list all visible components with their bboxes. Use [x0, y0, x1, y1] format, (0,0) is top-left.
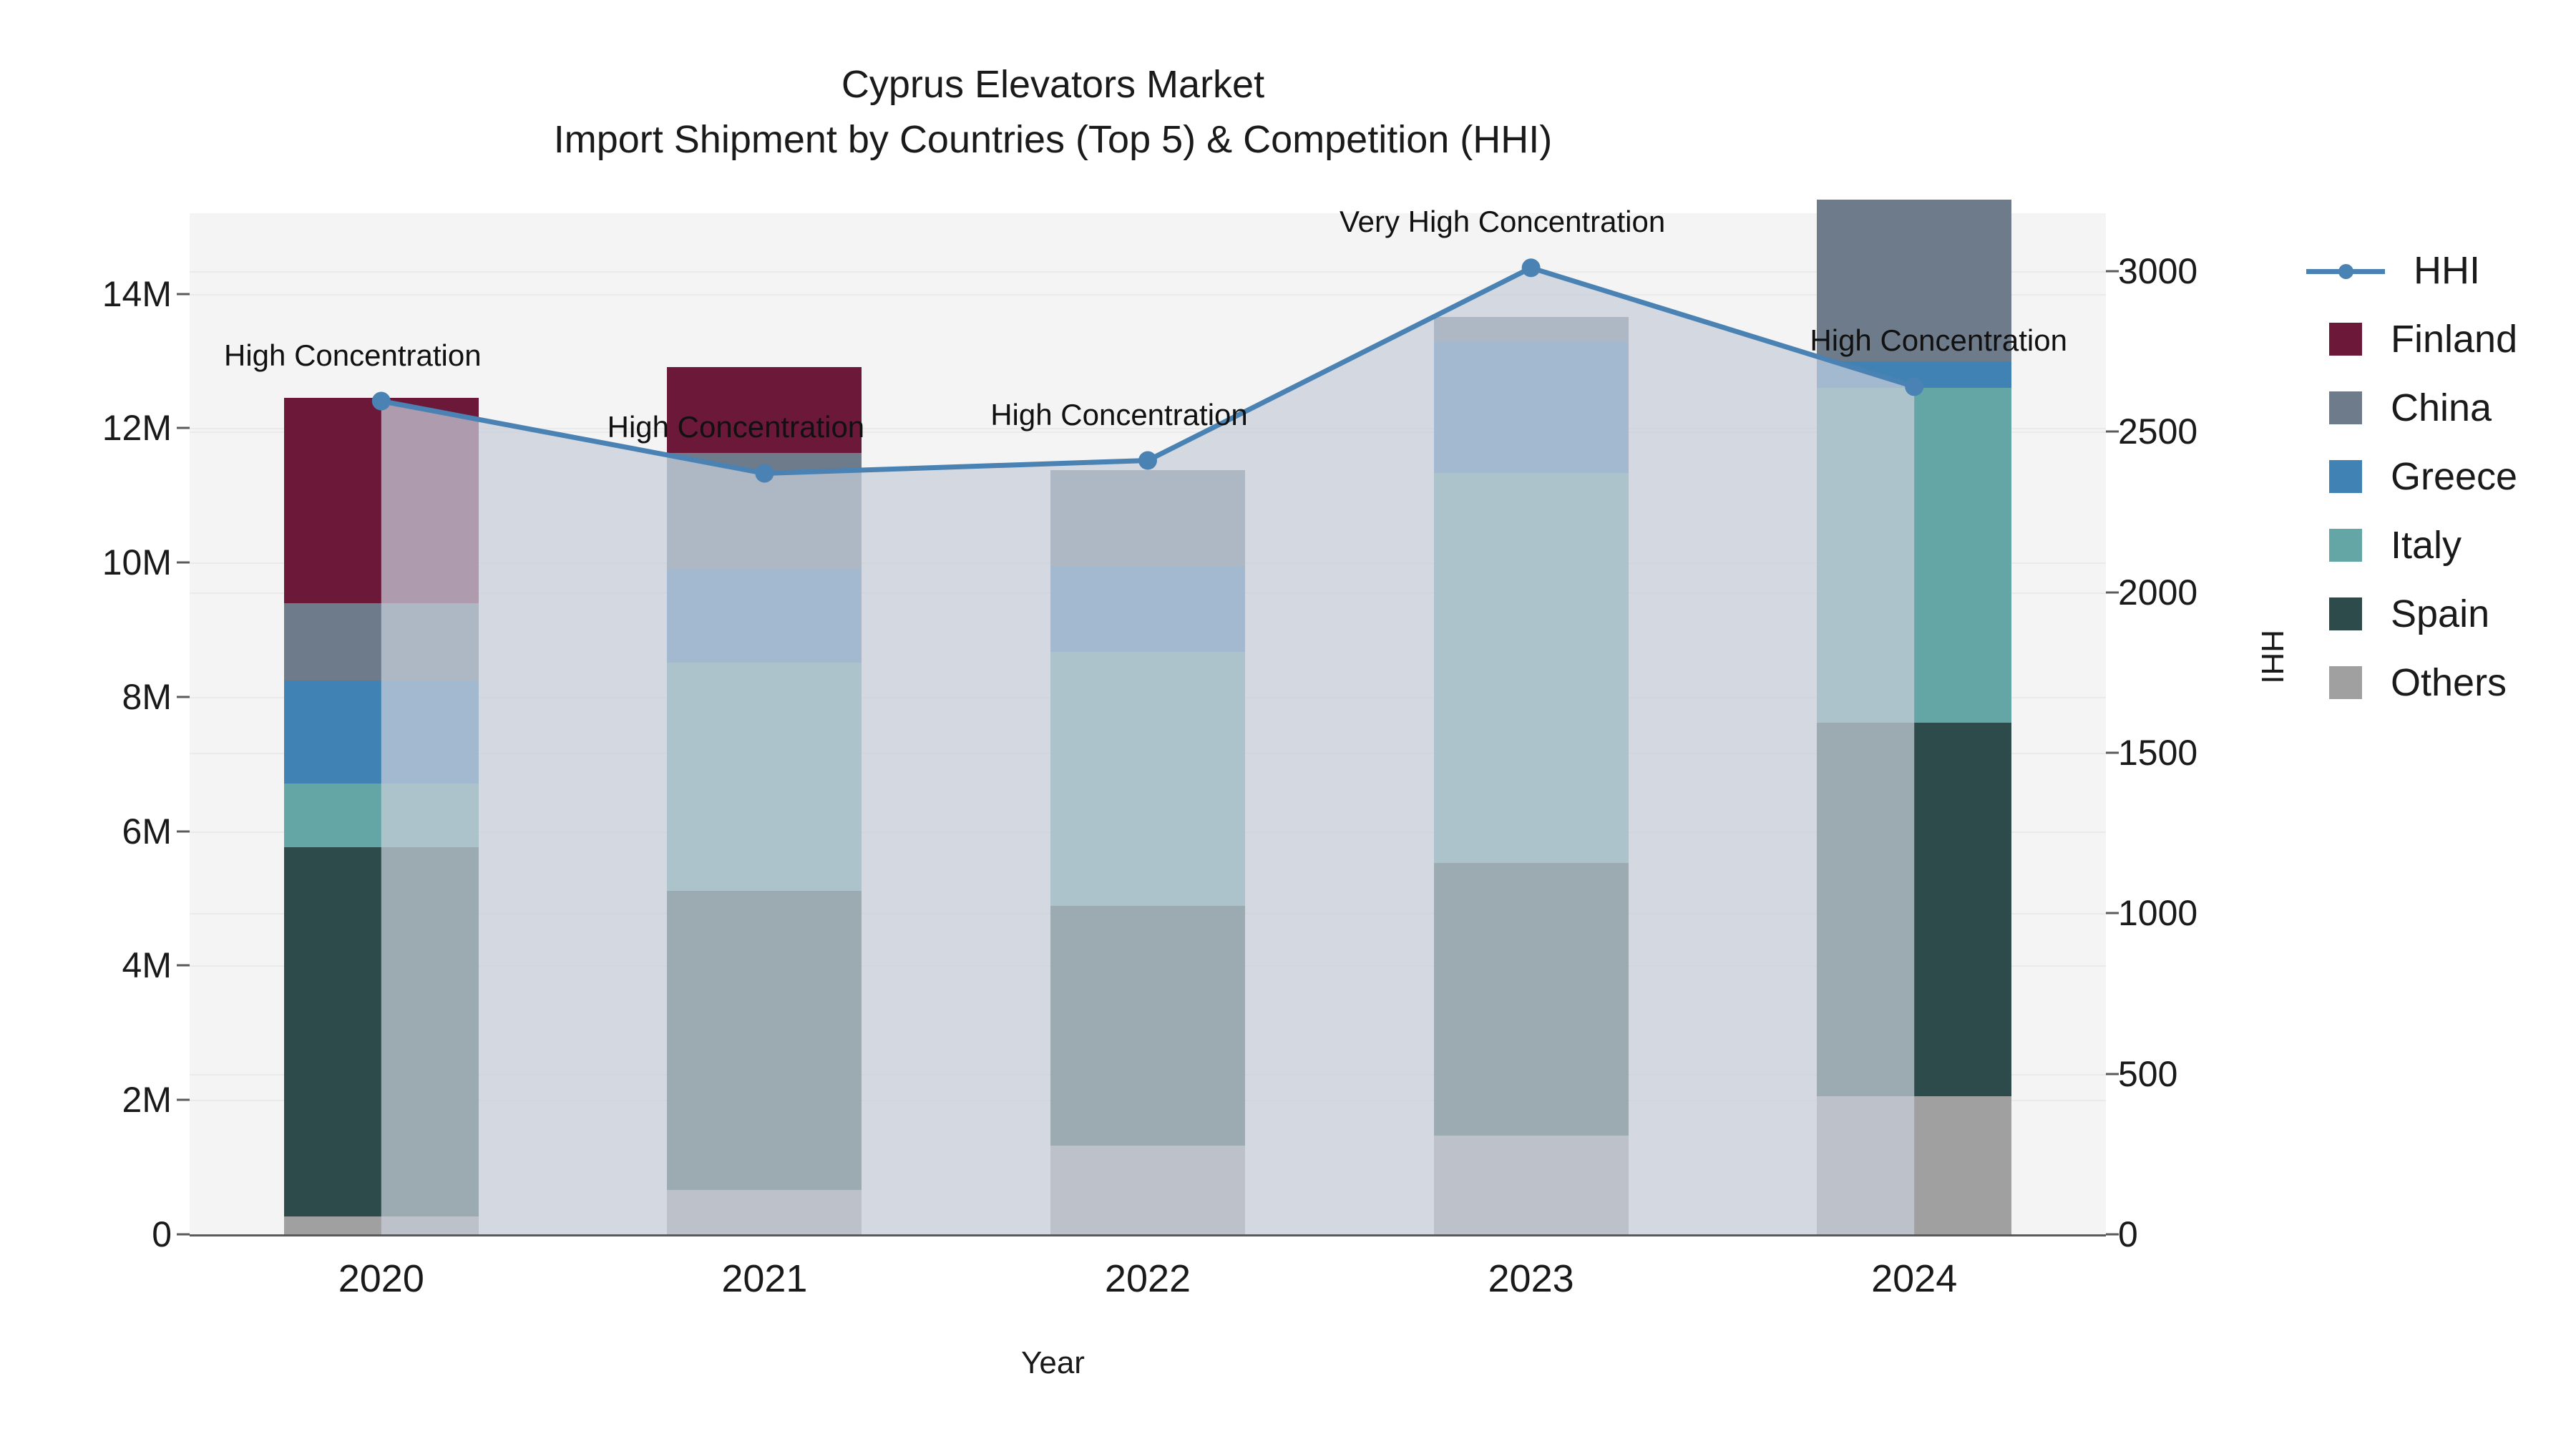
y-axis-right-tick-mark — [2106, 912, 2119, 914]
y-axis-left-tick-label: 14M — [7, 276, 172, 312]
y-axis-left-tick-mark — [177, 427, 190, 429]
legend-swatch-icon — [2329, 529, 2362, 562]
hhi-marker — [755, 464, 774, 482]
legend-item-label: HHI — [2414, 251, 2480, 290]
x-axis-tick-label: 2021 — [621, 1257, 907, 1301]
legend-swatch-icon — [2329, 460, 2362, 493]
y-axis-left-tick-label: 10M — [7, 545, 172, 580]
chart-canvas: Cyprus Elevators Market Import Shipment … — [0, 0, 2576, 1449]
legend-item-label: Spain — [2391, 595, 2489, 633]
x-axis-line — [190, 1234, 2106, 1236]
legend-swatch-icon — [2329, 597, 2362, 630]
x-axis-tick-label: 2024 — [1771, 1257, 2057, 1301]
legend-item[interactable]: China — [2329, 374, 2576, 442]
legend-swatch-icon — [2329, 666, 2362, 699]
y-axis-left-tick-mark — [177, 293, 190, 295]
legend-item-label: Finland — [2391, 320, 2517, 358]
legend-swatch-icon — [2329, 391, 2362, 424]
legend-item-label: Greece — [2391, 457, 2517, 496]
chart-title: Cyprus Elevators Market — [0, 57, 2106, 112]
chart-title-block: Cyprus Elevators Market Import Shipment … — [0, 57, 2106, 167]
legend-item-label: Others — [2391, 663, 2507, 702]
y-axis-right-tick-label: 2500 — [2118, 414, 2304, 449]
legend-line-marker-icon — [2306, 254, 2385, 287]
concentration-annotation: High Concentration — [224, 338, 482, 373]
legend-item[interactable]: Others — [2329, 648, 2576, 717]
x-axis-tick-label: 2020 — [238, 1257, 525, 1301]
legend-item[interactable]: Spain — [2329, 580, 2576, 648]
concentration-annotation: High Concentration — [1810, 323, 2067, 358]
y-axis-right-tick-mark — [2106, 591, 2119, 593]
y-axis-left-tick-mark — [177, 1234, 190, 1236]
y-axis-left-tick-label: 0 — [7, 1216, 172, 1252]
y-axis-right-tick-label: 2000 — [2118, 575, 2304, 610]
y-axis-right-tick-mark — [2106, 431, 2119, 433]
x-axis-label: Year — [0, 1345, 2106, 1381]
x-axis-tick-label: 2022 — [1005, 1257, 1291, 1301]
x-axis-tick-label: 2023 — [1388, 1257, 1674, 1301]
y-axis-right-tick-label: 500 — [2118, 1056, 2304, 1092]
legend-item-label: China — [2391, 389, 2492, 427]
chart-subtitle: Import Shipment by Countries (Top 5) & C… — [0, 112, 2106, 167]
concentration-annotation: Very High Concentration — [1340, 205, 1665, 239]
hhi-marker — [1138, 452, 1157, 470]
legend-item-label: Italy — [2391, 526, 2462, 565]
legend-swatch-icon — [2329, 323, 2362, 356]
y-axis-right-tick-mark — [2106, 1234, 2119, 1236]
y-axis-right-tick-label: 3000 — [2118, 253, 2304, 289]
concentration-annotation: High Concentration — [990, 398, 1248, 432]
y-axis-left-tick-label: 4M — [7, 947, 172, 983]
y-axis-left-tick-mark — [177, 696, 190, 698]
y-axis-left-tick-label: 12M — [7, 410, 172, 446]
y-axis-left-tick-label: 8M — [7, 679, 172, 715]
legend-item[interactable]: Finland — [2329, 305, 2576, 374]
y-axis-right-tick-mark — [2106, 751, 2119, 753]
y-axis-left-tick-mark — [177, 830, 190, 832]
y-axis-left-tick-mark — [177, 965, 190, 967]
legend-item[interactable]: Italy — [2329, 511, 2576, 580]
legend-item[interactable]: Greece — [2329, 442, 2576, 511]
concentration-annotation: High Concentration — [608, 410, 865, 444]
y-axis-left-tick-mark — [177, 562, 190, 564]
y-axis-left-tick-label: 6M — [7, 814, 172, 849]
y-axis-right-label: HHI — [2254, 630, 2290, 684]
y-axis-right-tick-mark — [2106, 1073, 2119, 1075]
y-axis-left-tick-label: 2M — [7, 1082, 172, 1118]
hhi-marker — [1522, 258, 1541, 277]
y-axis-left-tick-mark — [177, 1099, 190, 1101]
legend-item[interactable]: HHI — [2329, 236, 2576, 305]
y-axis-right-tick-label: 1000 — [2118, 895, 2304, 931]
y-axis-right-tick-mark — [2106, 270, 2119, 272]
y-axis-right-tick-label: 1500 — [2118, 735, 2304, 771]
hhi-marker — [372, 392, 391, 411]
legend: HHIFinlandChinaGreeceItalySpainOthers — [2329, 236, 2576, 717]
hhi-marker — [1905, 377, 1923, 396]
y-axis-right-tick-label: 0 — [2118, 1216, 2304, 1252]
